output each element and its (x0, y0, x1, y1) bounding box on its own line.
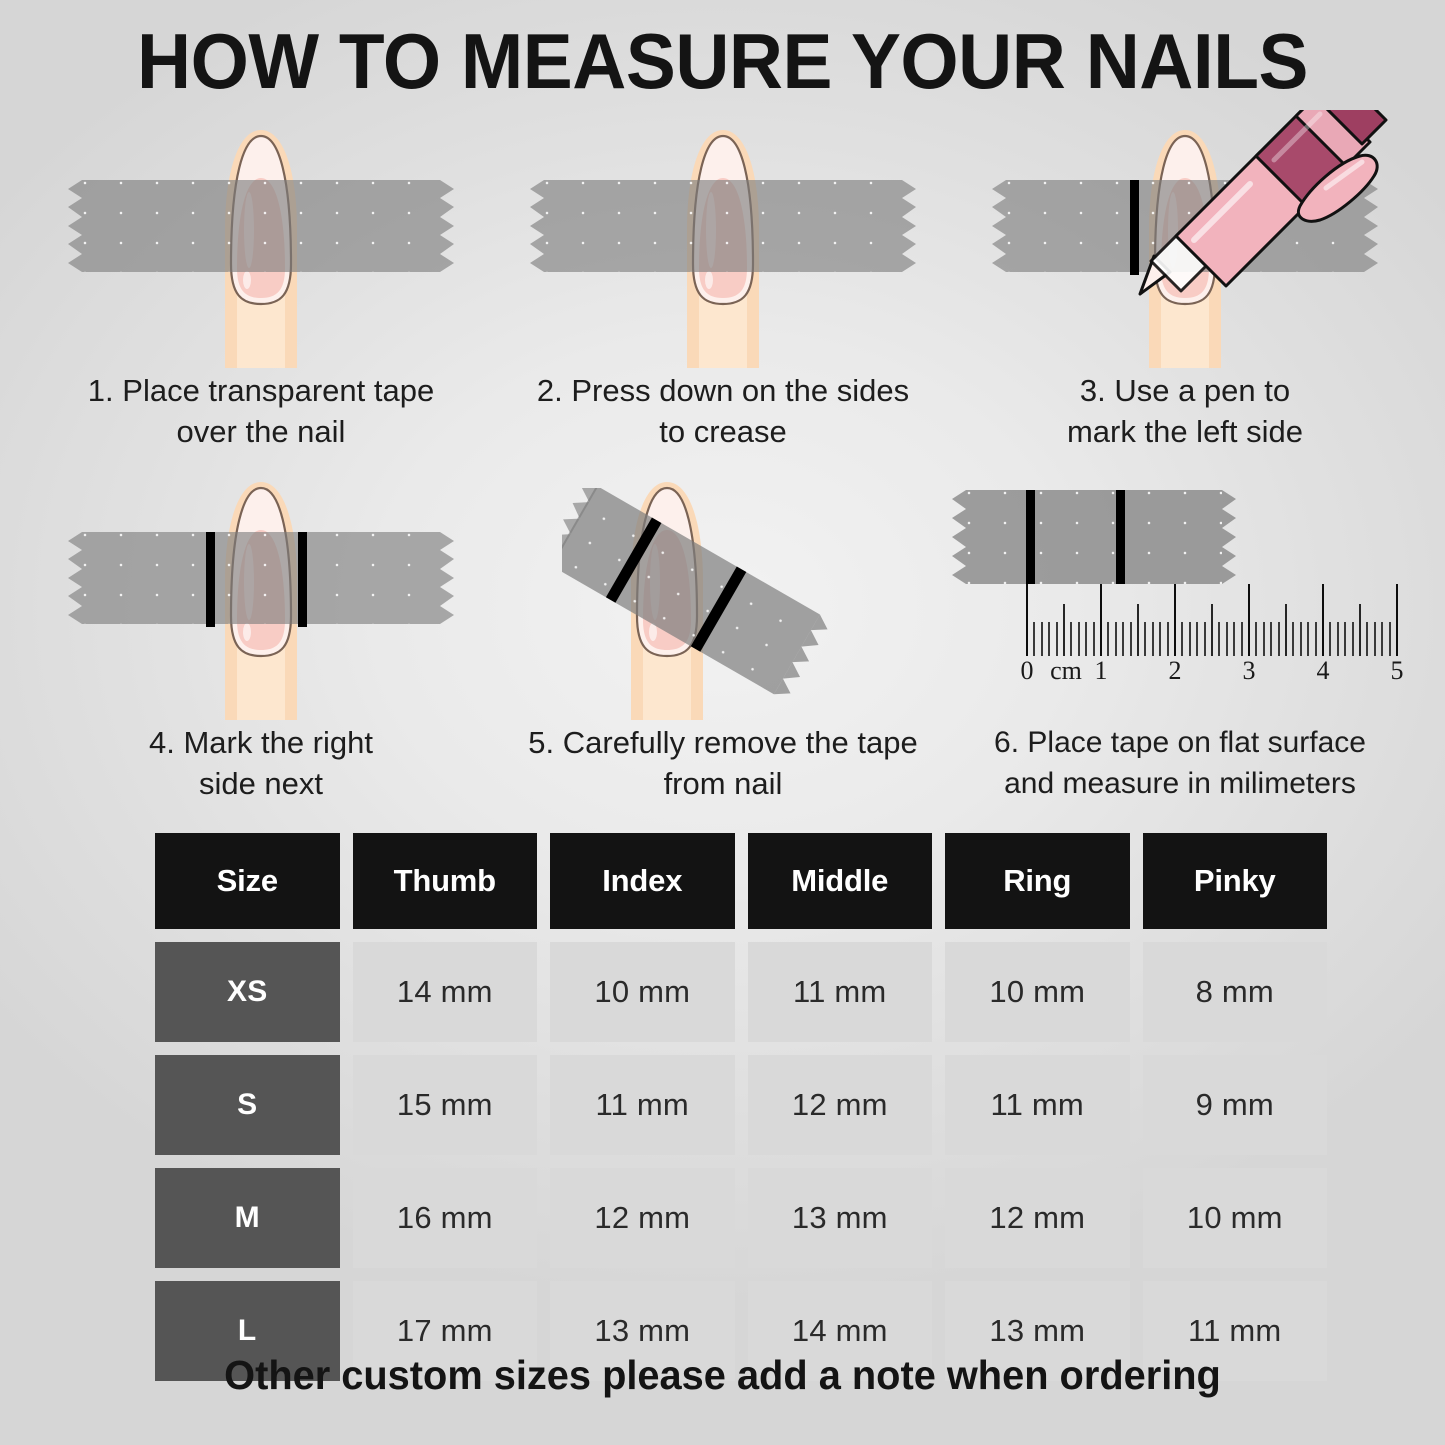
page-title: HOW TO MEASURE YOUR NAILS (29, 16, 1416, 107)
header-middle: Middle (748, 833, 933, 929)
tape-right-edge (440, 532, 456, 624)
size-chart-table: Size Thumb Index Middle Ring Pinky XS 14… (155, 833, 1327, 1394)
ruler-label-5: 5 (1391, 656, 1404, 686)
step-3-line2: mark the left side (1067, 414, 1303, 449)
header-size: Size (155, 833, 340, 929)
row-m-size: M (155, 1168, 340, 1268)
step-6-line1: 6. Place tape on flat surface (994, 726, 1366, 759)
step-4-line1: 4. Mark the right (149, 725, 373, 760)
step-5-line1: 5. Carefully remove the tape (528, 725, 917, 760)
header-pinky: Pinky (1143, 833, 1328, 929)
row-s-size: S (155, 1055, 340, 1155)
pen-mark-right (298, 532, 307, 627)
step-4-caption: 4. Mark the right side next (20, 722, 502, 804)
table-row: S 15 mm 11 mm 12 mm 11 mm 9 mm (155, 1055, 1327, 1155)
step-1-line1: 1. Place transparent tape (88, 373, 434, 408)
peeled-tape (562, 488, 922, 708)
row-xs-thumb: 14 mm (353, 942, 538, 1042)
step-4-illustration (20, 470, 502, 720)
row-xs-pinky: 8 mm (1143, 942, 1328, 1042)
pen-icon (1124, 110, 1424, 310)
header-index: Index (550, 833, 735, 929)
row-xs-ring: 10 mm (945, 942, 1130, 1042)
step-3-caption: 3. Use a pen to mark the left side (944, 370, 1426, 452)
row-m-ring: 12 mm (945, 1168, 1130, 1268)
tape-texture (966, 490, 1222, 584)
row-m-index: 12 mm (550, 1168, 735, 1268)
step-4: 4. Mark the right side next (20, 470, 502, 815)
tape-texture (544, 180, 902, 272)
row-xs-size: XS (155, 942, 340, 1042)
step-2-line2: to crease (659, 414, 787, 449)
row-m-thumb: 16 mm (353, 1168, 538, 1268)
step-6-caption: 6. Place tape on flat surface and measur… (920, 722, 1440, 804)
footer-note: Other custom sizes please add a note whe… (22, 1352, 1424, 1399)
table-row: M 16 mm 12 mm 13 mm 12 mm 10 mm (155, 1168, 1327, 1268)
header-thumb: Thumb (353, 833, 538, 929)
ruler-label-1: 1 (1095, 656, 1108, 686)
step-1: 1. Place transparent tape over the nail (20, 118, 502, 463)
ruler-label-3: 3 (1243, 656, 1256, 686)
ruler-labels: 0 cm 1 2 3 4 5 (944, 656, 1426, 696)
step-5: 5. Carefully remove the tape from nail (482, 470, 964, 815)
row-s-pinky: 9 mm (1143, 1055, 1328, 1155)
ruler-unit-label: cm (1050, 656, 1082, 686)
tape-left-edge (990, 180, 1006, 272)
row-s-index: 11 mm (550, 1055, 735, 1155)
row-xs-middle: 11 mm (748, 942, 933, 1042)
step-2: 2. Press down on the sides to crease (482, 118, 964, 463)
step-2-illustration (482, 118, 964, 368)
tape-left-edge (66, 180, 82, 272)
table-header-row: Size Thumb Index Middle Ring Pinky (155, 833, 1327, 929)
step-1-caption: 1. Place transparent tape over the nail (20, 370, 502, 452)
ruler-ticks (1026, 584, 1406, 656)
row-s-thumb: 15 mm (353, 1055, 538, 1155)
ruler-label-0: 0 (1021, 656, 1034, 686)
row-m-pinky: 10 mm (1143, 1168, 1328, 1268)
tape-left-edge (950, 490, 966, 584)
tape-right-edge (1222, 490, 1238, 584)
tape-left-edge (66, 532, 82, 624)
measure-mark-right (1116, 490, 1125, 584)
step-5-line2: from nail (664, 766, 783, 801)
step-5-illustration (482, 470, 964, 720)
tape-texture (82, 532, 440, 624)
tape-strip (82, 180, 440, 272)
step-3-line1: 3. Use a pen to (1080, 373, 1290, 408)
steps-grid: 1. Place transparent tape over the nail (0, 118, 1445, 818)
step-6: 0 cm 1 2 3 4 5 6. Place tape on flat sur… (944, 470, 1426, 815)
ruler-illustration: 0 cm 1 2 3 4 5 (944, 470, 1426, 720)
tape-left-edge (528, 180, 544, 272)
step-1-line2: over the nail (177, 414, 346, 449)
step-1-illustration (20, 118, 502, 368)
tape-texture (82, 180, 440, 272)
row-s-ring: 11 mm (945, 1055, 1130, 1155)
header-ring: Ring (945, 833, 1130, 929)
step-5-caption: 5. Carefully remove the tape from nail (482, 722, 964, 804)
row-m-middle: 13 mm (748, 1168, 933, 1268)
step-3-illustration (944, 118, 1426, 368)
step-2-line1: 2. Press down on the sides (537, 373, 909, 408)
step-6-illustration: 0 cm 1 2 3 4 5 (944, 470, 1426, 720)
ruler-label-4: 4 (1317, 656, 1330, 686)
pen-mark-left (206, 532, 215, 627)
tape-strip (82, 532, 440, 624)
table-row: XS 14 mm 10 mm 11 mm 10 mm 8 mm (155, 942, 1327, 1042)
tape-strip (544, 180, 902, 272)
tape-right-edge (440, 180, 456, 272)
row-s-middle: 12 mm (748, 1055, 933, 1155)
ruler-label-2: 2 (1169, 656, 1182, 686)
row-xs-index: 10 mm (550, 942, 735, 1042)
infographic-page: HOW TO MEASURE YOUR NAILS (0, 0, 1445, 1445)
tape-strip-measured (966, 490, 1222, 584)
tape-right-edge (902, 180, 918, 272)
step-6-line2: and measure in milimeters (1004, 767, 1356, 800)
step-3: 3. Use a pen to mark the left side (944, 118, 1426, 463)
step-2-caption: 2. Press down on the sides to crease (482, 370, 964, 452)
measure-mark-left (1026, 490, 1035, 584)
step-4-line2: side next (199, 766, 323, 801)
